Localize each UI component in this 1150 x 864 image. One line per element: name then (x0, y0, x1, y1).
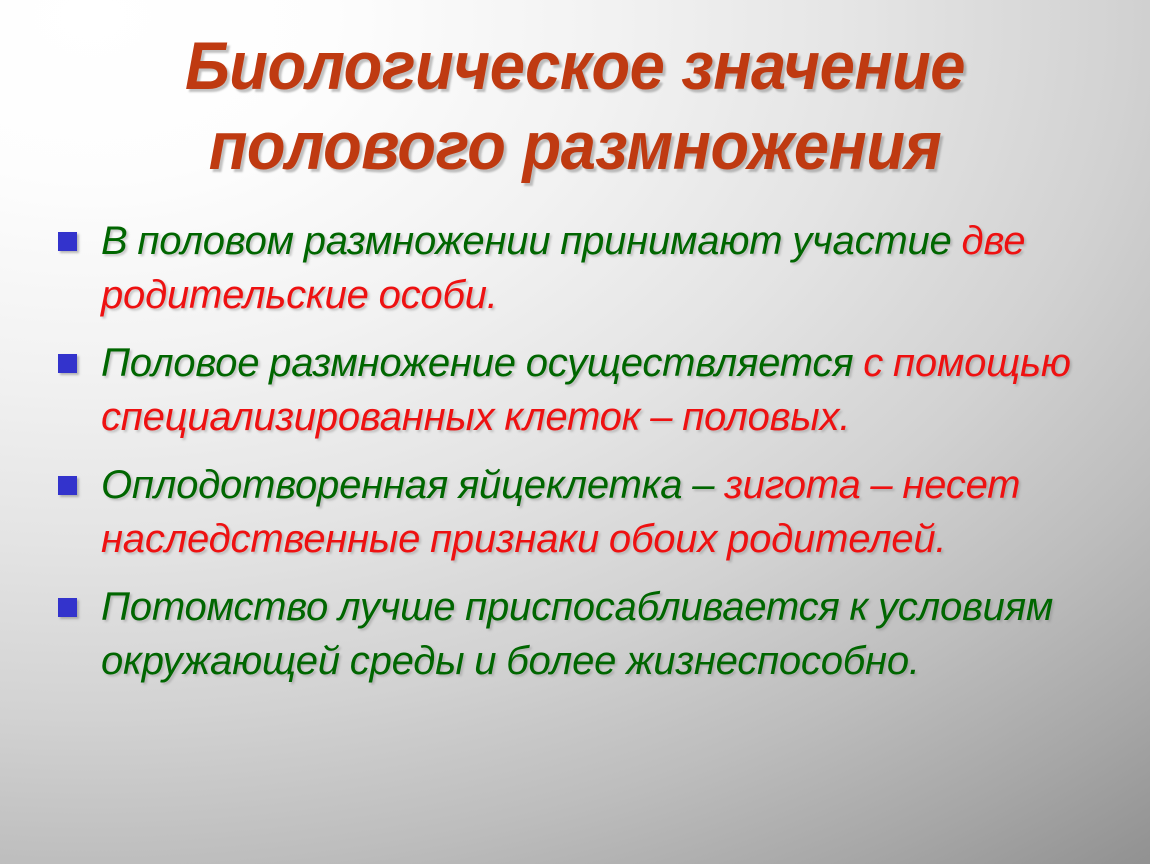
title-line-2: полового размножения (40, 106, 1110, 186)
square-bullet-icon (58, 598, 77, 617)
bullet-text-segment: Половое размножение осуществляется (101, 341, 863, 385)
bullet-item: В половом размножении принимают участие … (58, 214, 1098, 322)
bullet-text: Потомство лучше приспосабливается к усло… (101, 580, 1098, 688)
square-bullet-icon (58, 476, 77, 495)
slide-title: Биологическое значение полового размноже… (0, 26, 1150, 186)
bullet-list: В половом размножении принимают участие … (58, 214, 1098, 702)
bullet-text-segment: В половом размножении принимают участие (101, 219, 962, 263)
title-line-1: Биологическое значение (40, 26, 1110, 106)
bullet-item: Оплодотворенная яйцеклетка – зигота – не… (58, 458, 1098, 566)
bullet-text-segment: Оплодотворенная яйцеклетка – (101, 463, 724, 507)
bullet-text: Половое размножение осуществляется с пом… (101, 336, 1098, 444)
square-bullet-icon (58, 354, 77, 373)
bullet-text: В половом размножении принимают участие … (101, 214, 1098, 322)
bullet-text: Оплодотворенная яйцеклетка – зигота – не… (101, 458, 1098, 566)
slide-canvas: Биологическое значение полового размноже… (0, 0, 1150, 864)
square-bullet-icon (58, 232, 77, 251)
bullet-item: Половое размножение осуществляется с пом… (58, 336, 1098, 444)
bullet-text-segment: Потомство лучше приспосабливается к усло… (101, 585, 1053, 683)
bullet-item: Потомство лучше приспосабливается к усло… (58, 580, 1098, 688)
